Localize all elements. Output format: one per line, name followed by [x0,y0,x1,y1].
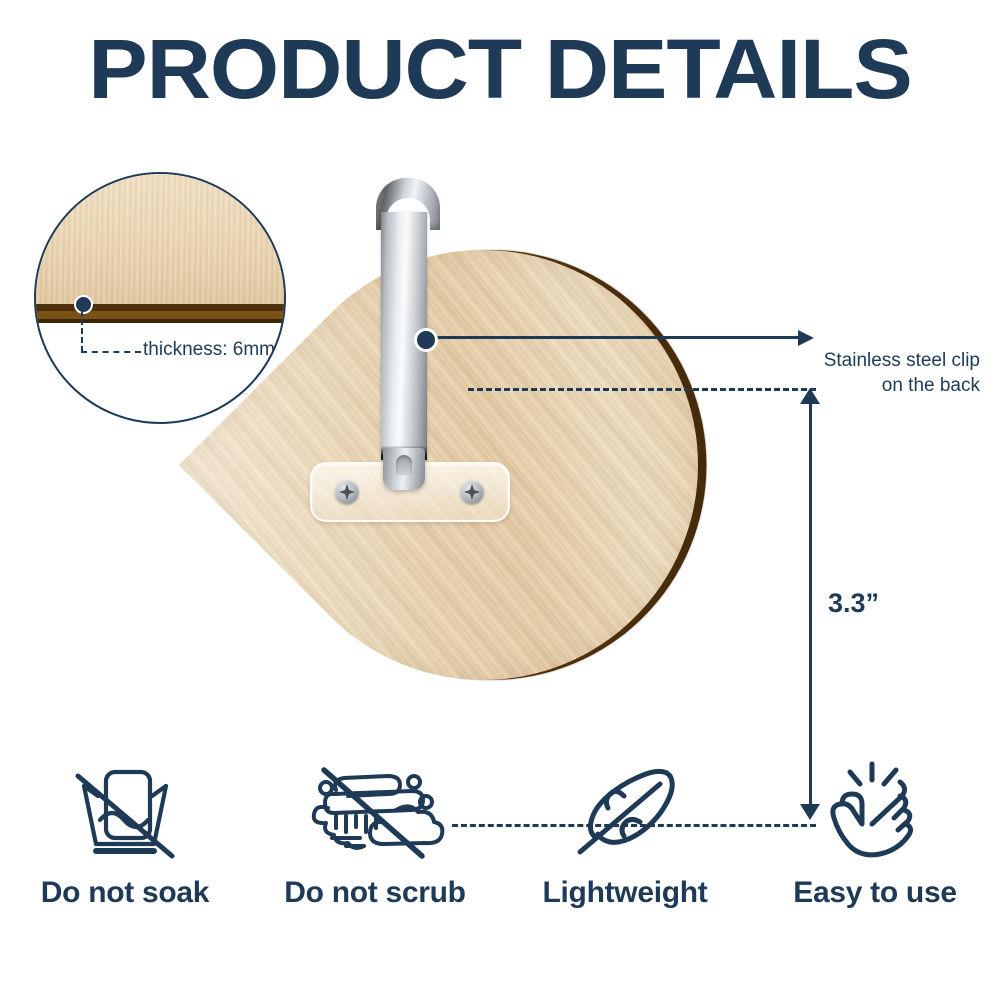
edge-thickness-zoom: thickness: 6mm [34,172,286,424]
hand-tap-icon [812,758,938,868]
height-dimension-label: 3.3” [828,588,879,619]
dimension-arrowhead-up-icon [800,388,820,404]
no-scrub-icon [300,758,450,868]
feather-icon [562,758,688,868]
thickness-label: thickness: 6mm [143,339,275,361]
screw-icon [460,480,484,504]
feature-item: Do not scrub [260,758,490,910]
clip-callout-arrowhead-icon [798,330,814,346]
zoom-wood-edge-shadow [34,319,286,323]
clip-callout-dot [414,328,438,352]
clip-callout-line-1: Stainless steel clip [700,348,980,373]
clip-foot [383,448,425,490]
zoom-wood-edge-dark [34,304,286,311]
clip-callout-line [428,336,800,339]
feature-item: Do not soak [10,758,240,910]
zoom-wood-edge-mid [34,311,286,319]
infographic-canvas: PRODUCT DETAILS [0,0,1000,1000]
feature-item: Easy to use [760,758,990,910]
screw-icon [335,480,359,504]
zoom-wood-surface [34,174,286,304]
height-dimension-line [809,402,812,808]
feature-label: Do not soak [41,876,209,910]
feature-label: Lightweight [543,876,708,910]
page-title: PRODUCT DETAILS [0,26,1000,112]
feature-row: Do not soak Do not scrub [0,758,1000,948]
clip-callout-line-2: on the back [700,373,980,398]
dimension-extension-top [468,388,816,391]
no-soak-icon [62,758,188,868]
feature-label: Easy to use [793,876,956,910]
feature-label: Do not scrub [284,876,465,910]
thickness-marker-dot [74,295,93,314]
thickness-leader-vertical [81,310,83,352]
feature-item: Lightweight [510,758,740,910]
product-illustration: thickness: 6mm Stainless steel clip on t… [0,150,1000,710]
thickness-leader-horizontal [81,351,141,353]
